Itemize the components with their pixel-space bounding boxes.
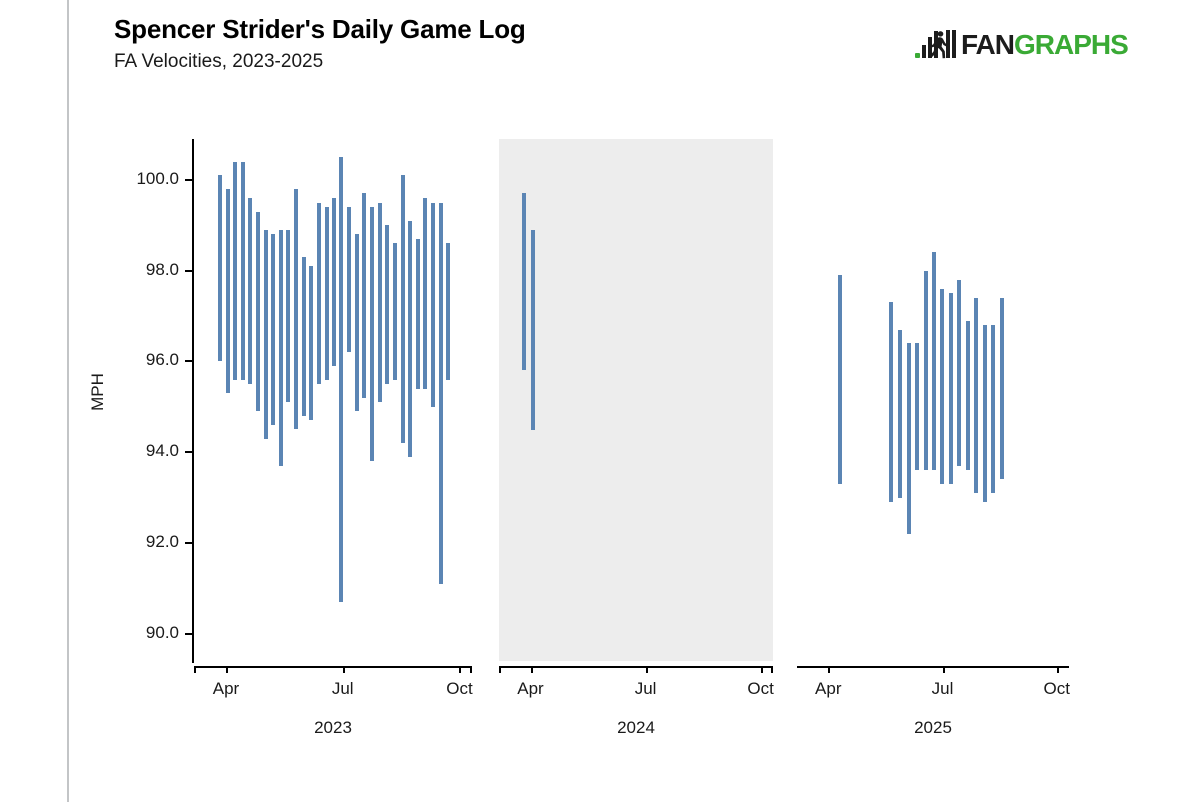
y-tick-mark — [185, 451, 192, 453]
velocity-range-bar[interactable] — [531, 230, 535, 430]
velocity-range-bar[interactable] — [949, 293, 953, 484]
velocity-range-bar[interactable] — [423, 198, 427, 389]
velocity-range-bar[interactable] — [325, 207, 329, 379]
velocity-range-bar[interactable] — [974, 298, 978, 493]
x-tick-label: Apr — [788, 679, 868, 699]
x-tick-mark — [531, 666, 533, 673]
velocity-range-bar[interactable] — [416, 239, 420, 389]
facet-label-2023: 2023 — [194, 718, 472, 738]
velocity-range-bar[interactable] — [408, 221, 412, 457]
x-tick-label: Jul — [303, 679, 383, 699]
y-axis-title: MPH — [88, 362, 108, 422]
velocity-range-bar[interactable] — [898, 330, 902, 498]
velocity-range-bar[interactable] — [907, 343, 911, 534]
y-tick-label: 98.0 — [64, 260, 179, 280]
velocity-range-bar[interactable] — [286, 230, 290, 402]
velocity-range-bar[interactable] — [339, 157, 343, 602]
x-tick-mark — [828, 666, 830, 673]
velocity-range-bar[interactable] — [355, 234, 359, 411]
y-tick-mark — [185, 360, 192, 362]
velocity-range-bar[interactable] — [991, 325, 995, 493]
velocity-range-bar[interactable] — [370, 207, 374, 461]
x-tick-mark — [343, 666, 345, 673]
velocity-range-bar[interactable] — [294, 189, 298, 430]
velocity-range-bar[interactable] — [226, 189, 230, 393]
velocity-range-bar[interactable] — [889, 302, 893, 502]
x-tick-label: Oct — [1017, 679, 1097, 699]
x-axis-line — [194, 666, 472, 668]
x-tick-mark — [1057, 666, 1059, 673]
y-tick-label: 90.0 — [64, 623, 179, 643]
y-tick-mark — [185, 179, 192, 181]
velocity-range-bar[interactable] — [271, 234, 275, 425]
velocity-range-bar[interactable] — [439, 203, 443, 584]
facet-panel-2023 — [194, 139, 472, 661]
x-tick-mark — [459, 666, 461, 673]
y-tick-label: 92.0 — [64, 532, 179, 552]
chart-plot-area: MPH90.092.094.096.098.0100.0AprJulOct202… — [0, 0, 1179, 802]
velocity-range-bar[interactable] — [241, 162, 245, 380]
x-tick-mark — [761, 666, 763, 673]
x-tick-mark — [943, 666, 945, 673]
y-tick-label: 100.0 — [64, 169, 179, 189]
velocity-range-bar[interactable] — [332, 198, 336, 366]
x-tick-label: Jul — [606, 679, 686, 699]
velocity-range-bar[interactable] — [385, 225, 389, 384]
x-axis-end-cap — [194, 666, 196, 673]
velocity-range-bar[interactable] — [218, 175, 222, 361]
velocity-range-bar[interactable] — [393, 243, 397, 379]
x-tick-label: Apr — [491, 679, 571, 699]
velocity-range-bar[interactable] — [264, 230, 268, 439]
y-tick-mark — [185, 542, 192, 544]
velocity-range-bar[interactable] — [378, 203, 382, 403]
y-tick-label: 94.0 — [64, 441, 179, 461]
velocity-range-bar[interactable] — [309, 266, 313, 420]
facet-panel-shading — [499, 139, 773, 661]
velocity-range-bar[interactable] — [966, 321, 970, 471]
velocity-range-bar[interactable] — [317, 203, 321, 385]
facet-label-2024: 2024 — [499, 718, 773, 738]
velocity-range-bar[interactable] — [302, 257, 306, 416]
velocity-range-bar[interactable] — [362, 193, 366, 397]
x-axis-end-cap — [499, 666, 501, 673]
velocity-range-bar[interactable] — [983, 325, 987, 502]
velocity-range-bar[interactable] — [347, 207, 351, 352]
velocity-range-bar[interactable] — [522, 193, 526, 370]
x-axis-end-cap — [470, 666, 472, 673]
x-axis-line — [499, 666, 773, 668]
velocity-range-bar[interactable] — [279, 230, 283, 466]
x-tick-label: Oct — [419, 679, 499, 699]
velocity-range-bar[interactable] — [233, 162, 237, 380]
velocity-range-bar[interactable] — [1000, 298, 1004, 480]
velocity-range-bar[interactable] — [940, 289, 944, 484]
velocity-range-bar[interactable] — [932, 252, 936, 470]
velocity-range-bar[interactable] — [256, 212, 260, 412]
y-tick-mark — [185, 270, 192, 272]
velocity-range-bar[interactable] — [957, 280, 961, 466]
x-axis-end-cap — [771, 666, 773, 673]
velocity-range-bar[interactable] — [401, 175, 405, 443]
velocity-range-bar[interactable] — [924, 271, 928, 471]
x-tick-mark — [646, 666, 648, 673]
x-tick-mark — [226, 666, 228, 673]
velocity-range-bar[interactable] — [915, 343, 919, 470]
velocity-range-bar[interactable] — [431, 203, 435, 407]
x-axis-line — [797, 666, 1069, 668]
facet-panel-2025 — [797, 139, 1069, 661]
x-tick-label: Apr — [186, 679, 266, 699]
velocity-range-bar[interactable] — [248, 198, 252, 384]
facet-panel-2024 — [499, 139, 773, 661]
velocity-range-bar[interactable] — [446, 243, 450, 379]
chart-page: Spencer Strider's Daily Game Log FA Velo… — [0, 0, 1179, 802]
facet-label-2025: 2025 — [797, 718, 1069, 738]
y-tick-mark — [185, 633, 192, 635]
y-tick-label: 96.0 — [64, 350, 179, 370]
x-tick-label: Jul — [903, 679, 983, 699]
velocity-range-bar[interactable] — [838, 275, 842, 484]
